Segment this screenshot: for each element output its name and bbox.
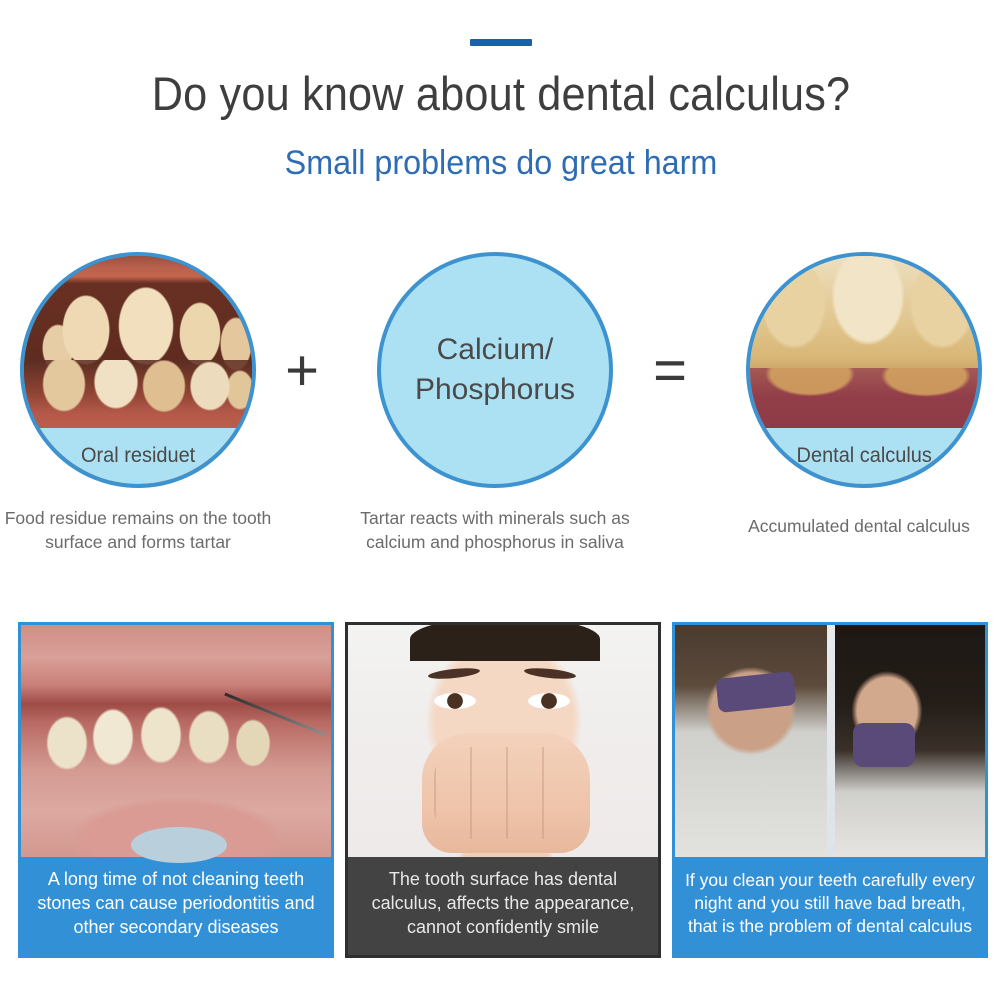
panel-caption-3: If you clean your teeth carefully every … [675,851,985,955]
eyebrow-left [428,666,481,680]
sleeping-woman [835,625,985,857]
circle-dental-calculus: Dental calculus [746,252,982,488]
panel-caption-1: A long time of not cleaning teeth stones… [21,851,331,955]
couple-in-bed-photo [675,625,985,857]
panel-periodontitis: A long time of not cleaning teeth stones… [18,622,334,958]
circle-label-oral-residue: Oral residuet [81,444,195,468]
circle-label-band: Dental calculus [750,428,978,484]
circle-label-phosphorus: Phosphorus [415,370,575,410]
hair [410,622,600,661]
panel-caption-2: The tooth surface has dental calculus, a… [348,851,658,955]
circle-oral-residue: Oral residuet [20,252,256,488]
eyebrow-right [524,666,577,680]
plus-operator: + [272,252,332,488]
hand [422,733,590,853]
page-subtitle: Small problems do great harm [25,142,977,184]
panel-bad-breath: If you clean your teeth carefully every … [672,622,988,958]
eye-right [528,693,570,709]
woman-covering-mouth-photo [348,625,658,857]
infographic-page: Do you know about dental calculus? Small… [0,0,1002,1002]
eye-left [434,693,476,709]
circle-calcium-phosphorus: Calcium/ Phosphorus [377,252,613,488]
equals-operator: = [640,252,700,488]
circle-caption-3: Accumulated dental calculus [706,514,1002,538]
page-title: Do you know about dental calculus? [40,66,962,122]
circle-label-calcium: Calcium/ [437,330,554,370]
gum-line [24,400,252,428]
circle-label-band: Oral residuet [24,428,252,484]
sleeping-man [675,625,827,857]
circle-label-dental-calculus: Dental calculus [796,444,931,468]
circle-caption-1: Food residue remains on the tooth surfac… [0,506,276,554]
equation-row: Oral residuet + Calcium/ Phosphorus = De… [0,252,1002,492]
circle-text-wrap: Calcium/ Phosphorus [381,256,609,484]
mouth-probe-photo [21,625,331,857]
panel-row: A long time of not cleaning teeth stones… [0,622,1002,958]
panel-appearance: The tooth surface has dental calculus, a… [345,622,661,958]
circle-caption-2: Tartar reacts with minerals such as calc… [342,506,648,554]
accent-bar [470,39,532,46]
